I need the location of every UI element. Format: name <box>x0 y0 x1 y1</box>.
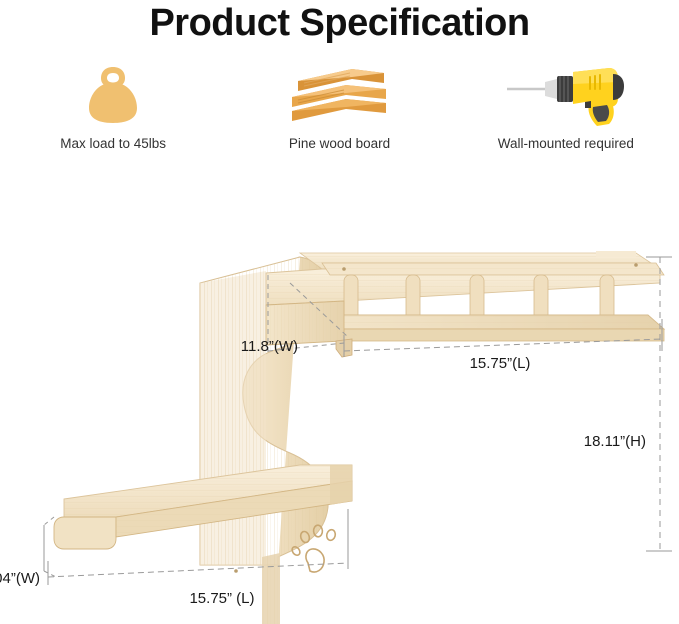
screw-hole <box>634 263 638 267</box>
feature-row: Max load to 45lbs Pine wood board <box>0 58 679 163</box>
product-diagram: 11.8”(W) 15.75”(L) 18.11”(H) 10.04”(W) 1… <box>0 165 679 624</box>
dimension-label-bottom-step-length: 15.75” (L) <box>189 590 254 607</box>
feature-label: Max load to 45lbs <box>60 136 166 151</box>
product-illustration-svg: 11.8”(W) 15.75”(L) 18.11”(H) 10.04”(W) 1… <box>0 165 679 624</box>
screw-hole <box>342 267 346 271</box>
screw-hole <box>234 569 238 573</box>
feature-label: Pine wood board <box>289 136 390 151</box>
dimension-label-top-shelf-width: 11.8”(W) <box>241 338 298 355</box>
feature-label: Wall-mounted required <box>498 136 634 151</box>
feature-max-load: Max load to 45lbs <box>0 58 226 163</box>
wood-planks-icon <box>284 58 394 130</box>
page-title: Product Specification <box>0 0 679 46</box>
power-drill-icon <box>501 58 631 130</box>
feature-mounting: Wall-mounted required <box>453 58 679 163</box>
feature-material: Pine wood board <box>226 58 452 163</box>
dimension-label-bottom-step-width: 10.04”(W) <box>0 570 40 587</box>
kettlebell-icon <box>83 58 143 130</box>
dimension-label-top-shelf-length: 15.75”(L) <box>470 355 531 372</box>
dimension-overall-height <box>646 257 672 551</box>
dimension-label-overall-height: 18.11”(H) <box>584 433 646 450</box>
